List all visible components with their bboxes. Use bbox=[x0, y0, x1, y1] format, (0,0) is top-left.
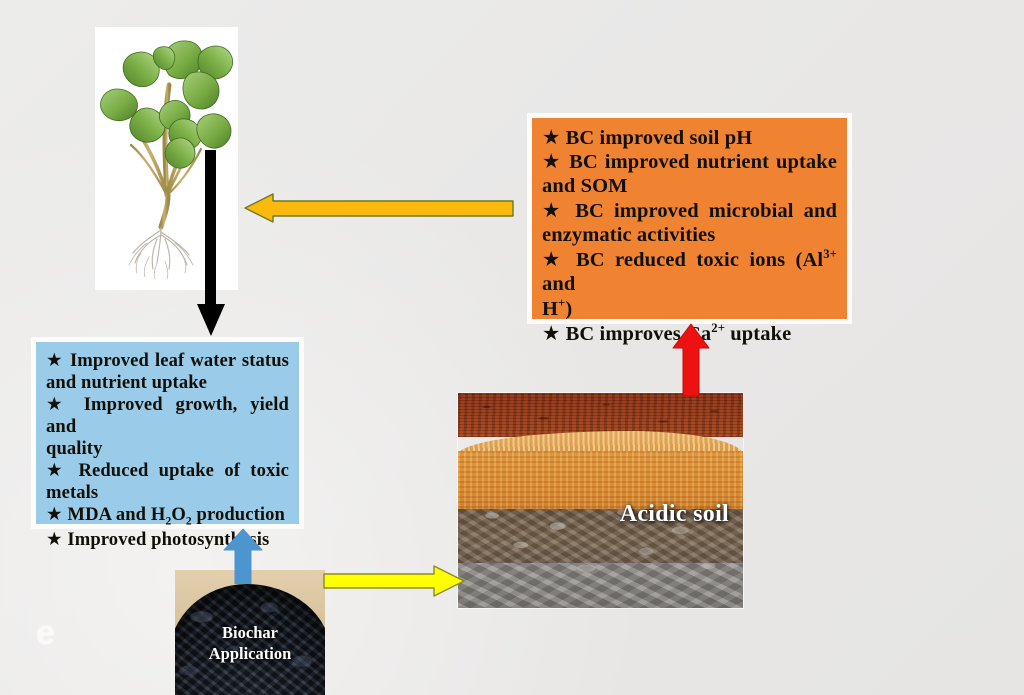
bullet-star-icon: ★ bbox=[46, 504, 63, 525]
blue-line-7: ★ MDA and H2O2 production bbox=[46, 504, 289, 529]
bullet-star-icon: ★ bbox=[542, 323, 560, 345]
bullet-star-icon: ★ bbox=[542, 200, 565, 222]
acidic-soil-label: Acidic soil bbox=[458, 501, 729, 528]
blue-line-6: metals bbox=[46, 482, 289, 504]
arrow-biochar-to-soil bbox=[322, 562, 466, 600]
biochar-illustration: Biochar Application bbox=[175, 570, 325, 695]
bullet-star-icon: ★ bbox=[46, 350, 64, 371]
blue-line-1: ★ Improved leaf water status bbox=[46, 350, 289, 372]
orange-line-7: H+) bbox=[542, 296, 837, 321]
orange-line-6: ★ BC reduced toxic ions (Al3+ and bbox=[542, 247, 837, 296]
bullet-star-icon: ★ bbox=[542, 127, 560, 149]
biochar-label-line2: Application bbox=[209, 644, 292, 663]
blue-line-3: ★ Improved growth, yield and bbox=[46, 394, 289, 438]
acidic-soil-illustration: Acidic soil bbox=[458, 393, 743, 608]
arrow-soil-to-soil-effects bbox=[669, 322, 713, 398]
plant-roots bbox=[129, 227, 193, 279]
soil-effects-box: ★ BC improved soil pH ★ BC improved nutr… bbox=[527, 113, 852, 324]
bullet-star-icon: ★ bbox=[46, 460, 68, 481]
orange-line-1: ★ BC improved soil pH bbox=[542, 126, 837, 150]
orange-line-5: enzymatic activities bbox=[542, 223, 837, 247]
diagram-canvas: e bbox=[0, 0, 1024, 695]
watermark: e bbox=[36, 614, 57, 653]
bullet-star-icon: ★ bbox=[46, 394, 71, 415]
orange-line-2: ★ BC improved nutrient uptake bbox=[542, 150, 837, 174]
bullet-star-icon: ★ bbox=[542, 151, 562, 173]
arrow-biochar-to-plant-effects bbox=[222, 528, 264, 584]
biochar-label-line1: Biochar bbox=[222, 623, 278, 642]
arrow-plant-to-plant-effects bbox=[194, 150, 228, 338]
bullet-star-icon: ★ bbox=[542, 249, 566, 271]
arrow-soil-effects-to-plant bbox=[243, 192, 515, 224]
plant-effects-box: ★ Improved leaf water status and nutrien… bbox=[31, 337, 304, 529]
bullet-star-icon: ★ bbox=[46, 529, 63, 550]
orange-line-4: ★ BC improved microbial and bbox=[542, 199, 837, 223]
blue-line-4: quality bbox=[46, 438, 289, 460]
orange-line-3: and SOM bbox=[542, 174, 837, 198]
blue-line-2: and nutrient uptake bbox=[46, 372, 289, 394]
blue-line-5: ★ Reduced uptake of toxic bbox=[46, 460, 289, 482]
biochar-label: Biochar Application bbox=[175, 622, 325, 664]
